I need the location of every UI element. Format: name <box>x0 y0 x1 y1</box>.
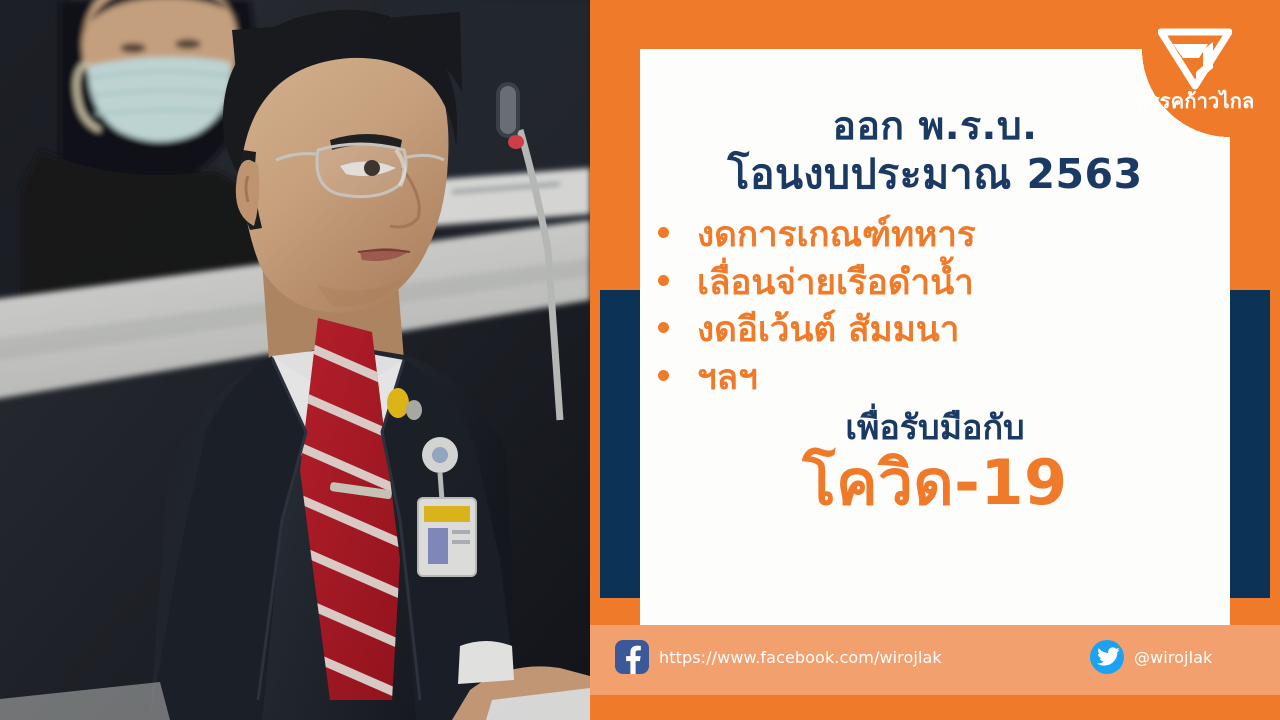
tagline-subline: เพื่อรับมือกับ <box>640 410 1230 447</box>
twitter-link[interactable]: @wirojlak <box>1090 640 1212 674</box>
headline-line-2: โอนงบประมาณ 2563 <box>640 153 1230 196</box>
measure-list: งดการเกณฑ์ทหาร เลื่อนจ่ายเรือดำน้ำ งดอีเ… <box>640 212 1230 402</box>
tagline: เพื่อรับมือกับ โควิด-19 <box>640 410 1230 514</box>
facebook-icon[interactable] <box>615 640 649 674</box>
bullet-dot-icon <box>658 275 669 286</box>
list-item: ฯลฯ <box>658 355 1230 403</box>
bullet-dot-icon <box>658 370 669 381</box>
list-item-label: งดการเกณฑ์ทหาร <box>697 212 976 260</box>
info-panel: พรรคก้าวไกล ออก พ.ร.บ. โอนงบประมาณ 2563 … <box>590 0 1280 720</box>
list-item-label: งดอีเว้นต์ สัมมนา <box>697 307 959 355</box>
facebook-url[interactable]: https://www.facebook.com/wirojlak <box>659 648 942 667</box>
bullet-dot-icon <box>658 227 669 238</box>
list-item-label: ฯลฯ <box>697 355 758 403</box>
list-item: เลื่อนจ่ายเรือดำน้ำ <box>658 260 1230 308</box>
tagline-bigline: โควิด-19 <box>640 450 1230 515</box>
poster-canvas: พรรคก้าวไกล ออก พ.ร.บ. โอนงบประมาณ 2563 … <box>0 0 1280 720</box>
bullet-dot-icon <box>658 322 669 333</box>
footer-bottom-strip <box>590 695 1280 720</box>
facebook-link[interactable]: https://www.facebook.com/wirojlak <box>615 640 942 674</box>
list-item-label: เลื่อนจ่ายเรือดำน้ำ <box>697 260 974 308</box>
headline-line-1: ออก พ.ร.บ. <box>640 49 1230 148</box>
card-content: ออก พ.ร.บ. โอนงบประมาณ 2563 งดการเกณฑ์ทห… <box>640 49 1230 625</box>
headline: ออก พ.ร.บ. โอนงบประมาณ 2563 <box>640 49 1230 196</box>
twitter-handle[interactable]: @wirojlak <box>1134 648 1212 667</box>
list-item: งดการเกณฑ์ทหาร <box>658 212 1230 260</box>
twitter-icon[interactable] <box>1090 640 1124 674</box>
list-item: งดอีเว้นต์ สัมมนา <box>658 307 1230 355</box>
speaker-photo <box>0 0 590 720</box>
